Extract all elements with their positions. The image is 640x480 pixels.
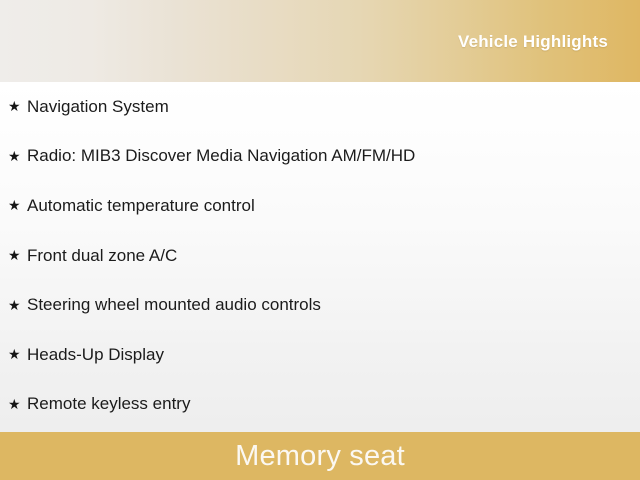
list-item-label: Front dual zone A/C: [27, 246, 640, 266]
list-item-label: Navigation System: [27, 97, 640, 117]
list-item: ★ Radio: MIB3 Discover Media Navigation …: [0, 132, 640, 182]
highlights-panel: ★ Navigation System ★ Radio: MIB3 Discov…: [0, 82, 640, 432]
star-icon: ★: [8, 298, 27, 312]
list-item-label: Remote keyless entry: [27, 394, 640, 414]
highlights-list: ★ Navigation System ★ Radio: MIB3 Discov…: [0, 82, 640, 429]
list-item: ★ Navigation System: [0, 82, 640, 132]
list-item-label: Radio: MIB3 Discover Media Navigation AM…: [27, 146, 640, 166]
list-item: ★ Remote keyless entry: [0, 380, 640, 430]
list-item-label: Steering wheel mounted audio controls: [27, 295, 640, 315]
star-icon: ★: [8, 347, 27, 361]
header-band: Vehicle Highlights: [0, 0, 640, 82]
list-item: ★ Front dual zone A/C: [0, 231, 640, 281]
star-icon: ★: [8, 248, 27, 262]
list-item: ★ Automatic temperature control: [0, 181, 640, 231]
star-icon: ★: [8, 99, 27, 113]
star-icon: ★: [8, 149, 27, 163]
footer-band: Memory seat: [0, 432, 640, 480]
list-item-label: Heads-Up Display: [27, 345, 640, 365]
star-icon: ★: [8, 397, 27, 411]
list-item: ★ Steering wheel mounted audio controls: [0, 280, 640, 330]
list-item-label: Automatic temperature control: [27, 196, 640, 216]
vehicle-highlights-slide: Vehicle Highlights ★ Navigation System ★…: [0, 0, 640, 480]
page-title: Vehicle Highlights: [458, 33, 608, 50]
list-item: ★ Heads-Up Display: [0, 330, 640, 380]
footer-caption: Memory seat: [235, 442, 405, 471]
star-icon: ★: [8, 198, 27, 212]
